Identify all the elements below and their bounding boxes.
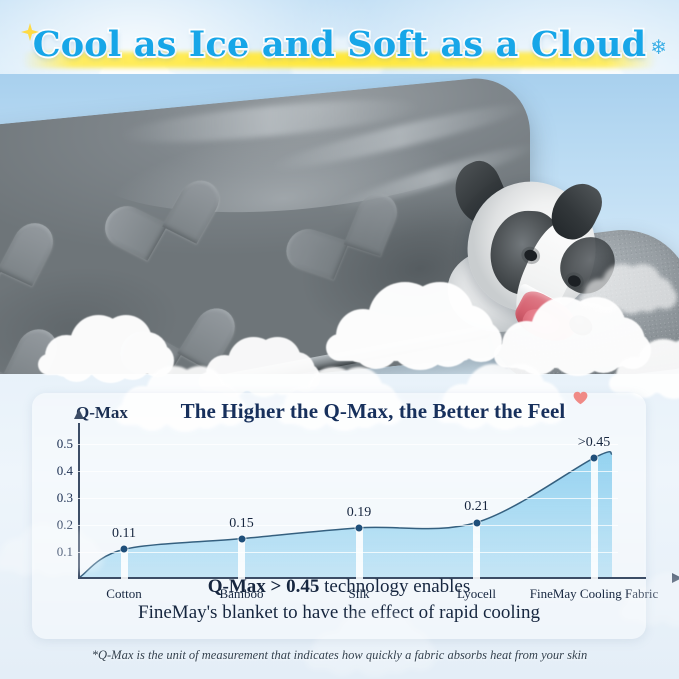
page-title: Cool as Ice and Soft as a Cloud xyxy=(33,24,647,65)
heart-icon xyxy=(573,391,588,405)
data-point-label: 0.11 xyxy=(112,526,136,542)
qmax-area-chart: 0.10.20.30.40.50.11Cotton0.15Bamboo0.19S… xyxy=(78,431,618,579)
value-marker-bar xyxy=(591,458,598,579)
chart-card: Q-Max The Higher the Q-Max, the Better t… xyxy=(32,393,646,639)
header: Cool as Ice and Soft as a Cloud xyxy=(0,16,679,72)
data-point xyxy=(591,454,598,461)
y-tick-label: 0.3 xyxy=(57,490,73,506)
gridline xyxy=(78,444,618,445)
sparkle-icon xyxy=(20,22,40,42)
data-point-label: 0.15 xyxy=(229,516,254,532)
data-point-label: >0.45 xyxy=(578,435,610,451)
dog xyxy=(442,156,652,341)
footnote: *Q-Max is the unit of measurement that i… xyxy=(0,648,679,663)
caption-bold: Q-Max > 0.45 xyxy=(208,576,320,597)
product-photo xyxy=(0,74,679,374)
gridline xyxy=(78,525,618,526)
gridline xyxy=(78,552,618,553)
chart-heading: The Higher the Q-Max, the Better the Fee… xyxy=(138,399,608,424)
y-tick-label: 0.2 xyxy=(57,517,73,533)
value-marker-bar xyxy=(356,528,363,579)
snowflake-icon: ❄ xyxy=(650,38,667,58)
data-point xyxy=(473,519,480,526)
value-marker-bar xyxy=(238,539,245,579)
data-point-label: 0.21 xyxy=(464,499,489,515)
y-tick-label: 0.1 xyxy=(57,544,73,560)
y-axis xyxy=(78,423,80,579)
data-point xyxy=(121,546,128,553)
value-marker-bar xyxy=(473,523,480,580)
caption-line2: FineMay's blanket to have the effect of … xyxy=(56,600,622,625)
data-point xyxy=(356,524,363,531)
y-tick-label: 0.5 xyxy=(57,436,73,452)
caption-rest: technology enables xyxy=(319,576,470,597)
gridline xyxy=(78,498,618,499)
y-tick-label: 0.4 xyxy=(57,463,73,479)
data-point xyxy=(238,535,245,542)
data-point-label: 0.19 xyxy=(347,505,372,521)
gridline xyxy=(78,471,618,472)
chart-caption: Q-Max > 0.45 technology enables FineMay'… xyxy=(56,574,622,625)
infographic-root: Cool as Ice and Soft as a Cloud ❄ xyxy=(0,0,679,679)
quilted-heart xyxy=(0,201,38,290)
